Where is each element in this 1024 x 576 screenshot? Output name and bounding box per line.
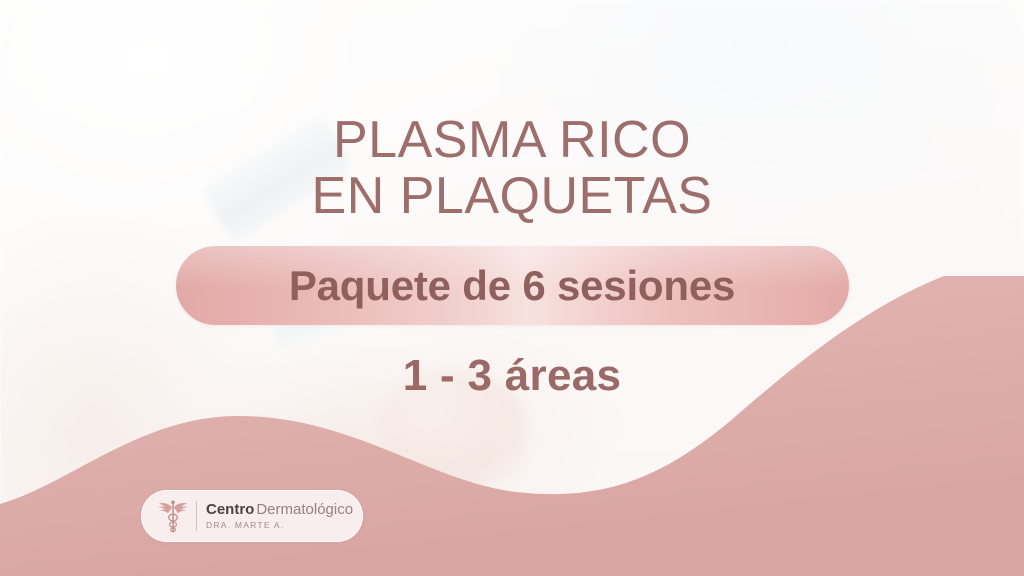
content-stack: PLASMA RICO EN PLAQUETAS Paquete de 6 se… (0, 0, 1024, 576)
promo-banner: PLASMA RICO EN PLAQUETAS Paquete de 6 se… (0, 0, 1024, 576)
logo-text-block: CentroDermatológico DRA. MARTE A. (206, 502, 353, 530)
brand-logo: CentroDermatológico DRA. MARTE A. (141, 490, 363, 542)
page-title-line-2: EN PLAQUETAS (312, 168, 713, 224)
package-badge-label: Paquete de 6 sesiones (289, 262, 735, 310)
package-badge: Paquete de 6 sesiones (176, 246, 849, 325)
page-title: PLASMA RICO EN PLAQUETAS (312, 112, 713, 224)
logo-name-light: Dermatológico (256, 501, 353, 518)
logo-name-bold: Centro (206, 501, 254, 518)
areas-subtitle: 1 - 3 áreas (403, 351, 622, 401)
logo-divider (196, 501, 197, 531)
caduceus-icon (156, 498, 190, 534)
logo-subtitle: DRA. MARTE A. (206, 520, 353, 530)
page-title-line-1: PLASMA RICO (312, 112, 713, 168)
logo-name: CentroDermatológico (206, 502, 353, 518)
